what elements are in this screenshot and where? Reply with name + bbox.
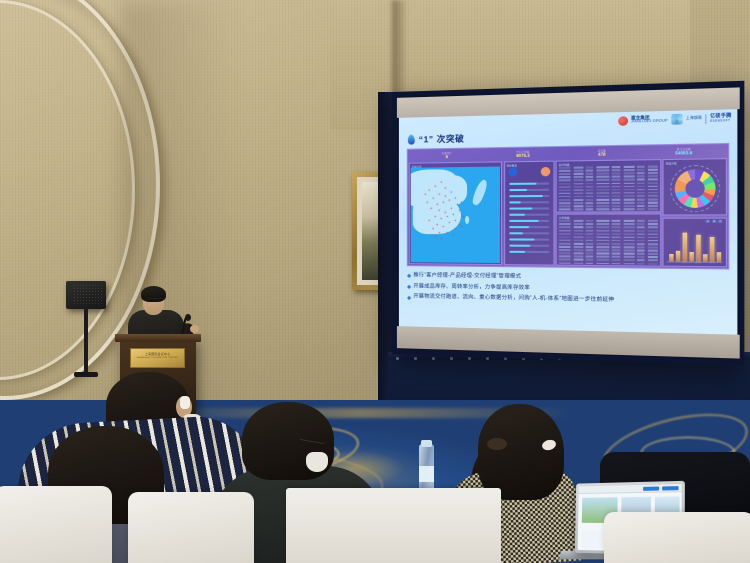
table-cell [596, 256, 609, 258]
map-marker [447, 232, 448, 233]
table-cell [647, 220, 657, 222]
partner-flower-icon [671, 114, 682, 125]
table-cell [647, 169, 657, 171]
table-cell [586, 240, 594, 242]
table-row [559, 227, 658, 229]
map-canvas [411, 167, 500, 263]
table-row [559, 265, 658, 266]
table-cell [586, 209, 594, 211]
table-cell [573, 186, 583, 188]
table-cell [660, 260, 661, 262]
table-cell [573, 205, 583, 207]
table-cell [647, 195, 657, 197]
table-cell [637, 227, 645, 229]
table-cell [573, 202, 583, 204]
table-cell [596, 259, 609, 261]
water-bottle-cap [421, 440, 432, 447]
table-cell [596, 212, 609, 213]
table-row [559, 256, 658, 258]
table-cell [612, 169, 621, 171]
table-cell [612, 182, 621, 184]
slide-bullet-1: 开展成品库存、周转率分析，力争提高库存效率 [408, 283, 728, 295]
table-cell [559, 249, 571, 251]
table-cell [596, 253, 609, 255]
landmass-taiwan [465, 216, 469, 224]
table-cell [637, 172, 645, 174]
table-cell [637, 195, 645, 197]
table-cell [559, 252, 571, 254]
table-cell [586, 186, 594, 188]
table-cell [573, 183, 583, 185]
table-row [559, 220, 658, 222]
table-cell [647, 243, 657, 245]
metric-minibar-fill [509, 251, 526, 254]
table-cell [647, 185, 657, 187]
table-cell [586, 249, 594, 251]
podium-top-surface [115, 334, 201, 342]
table-cell [647, 237, 657, 239]
table-cell [596, 173, 609, 175]
table-cell [660, 263, 661, 265]
table-row [559, 199, 658, 201]
table-cell [596, 176, 609, 178]
table-cell [647, 172, 657, 174]
table-cell [637, 223, 645, 225]
table-cell [623, 230, 634, 232]
table-cell [596, 179, 609, 181]
table-cell [637, 208, 645, 210]
table-cell [559, 196, 571, 198]
table-cell [623, 189, 634, 191]
table-cell [647, 182, 657, 184]
table-cell [612, 220, 621, 222]
bar-chart-panel: 日周月 [662, 217, 727, 267]
metric-minibar [509, 226, 549, 229]
table-row [559, 262, 658, 265]
table-cell [660, 208, 661, 210]
table-cell [559, 183, 571, 185]
metric-minibar [509, 189, 549, 192]
table-cell [637, 220, 645, 222]
bar-7 [710, 237, 714, 262]
metric-bubble-secondary [540, 167, 550, 176]
table-cell [596, 227, 609, 229]
table-cell [637, 166, 645, 168]
table-cell [586, 220, 594, 222]
table-cell [637, 256, 645, 258]
earbud-icon [180, 396, 190, 409]
table-cell [596, 166, 609, 168]
speaker-grill-icon [73, 284, 103, 306]
table-cell [623, 243, 634, 245]
table-cell [559, 243, 571, 245]
bar-6 [703, 254, 707, 262]
table-cell [637, 250, 645, 252]
bullet-text: 开展物流交付跑道、流向、重心数据分析，问购“人-机-体系”地图进一步往前延伸 [413, 294, 614, 304]
kpi-3: 累计交易额54093.6 [643, 148, 724, 157]
table-cell [612, 202, 621, 204]
table-cell [596, 249, 609, 251]
table-cell [586, 170, 594, 172]
table-cell [612, 212, 621, 213]
table-cell [596, 236, 609, 238]
map-marker [435, 236, 436, 237]
table-cell [637, 263, 645, 265]
table-cell [573, 227, 583, 229]
table-cell [660, 230, 661, 232]
table-cell [623, 240, 634, 242]
metric-minibar [509, 214, 549, 217]
table-cell [573, 262, 583, 264]
table-cell [623, 202, 634, 204]
table-cell [559, 227, 571, 229]
table-cell [559, 186, 571, 188]
jianlong-mark-icon [618, 116, 628, 126]
bullet-text: 推行“客户经理-产品经理-交付经理”管理模式 [413, 272, 521, 280]
table-cell [612, 195, 621, 197]
metric-bubbles [508, 167, 550, 177]
table-cell [559, 176, 571, 178]
table-cell [660, 192, 661, 194]
microphone-head-icon [185, 314, 191, 321]
table-cell [637, 243, 645, 245]
table-cell [559, 256, 571, 258]
podium-plaque-main: 上海国际会议中心 SHANGHAI CONVENTION CENTER [130, 348, 185, 368]
backdrop-grommet [414, 357, 417, 360]
table-cell [647, 253, 657, 255]
table-cell [647, 240, 657, 242]
table-row [559, 223, 658, 225]
table-cell [647, 223, 657, 225]
table-cell [647, 189, 657, 191]
table-cell [637, 179, 645, 181]
table-row [559, 179, 658, 182]
table-cell [596, 199, 609, 201]
table-cell [660, 223, 661, 225]
table-cell [573, 265, 583, 266]
table-cell [573, 192, 583, 194]
table-cell [559, 205, 571, 207]
table-cell [586, 176, 594, 178]
table-cell [637, 185, 645, 187]
wall-speaker [66, 281, 106, 309]
table-cell [596, 209, 609, 211]
metric-minibar [509, 220, 549, 222]
bullet-marker-icon [407, 285, 411, 289]
table-cell [559, 189, 571, 191]
table-cell [660, 165, 661, 167]
table-cell [559, 230, 571, 232]
table-cell [559, 202, 571, 204]
table-cell [573, 220, 583, 222]
table-cell [637, 259, 645, 261]
table-cell [586, 199, 594, 201]
table-cell [660, 202, 661, 204]
slide-title: “1” 次突破 [408, 132, 465, 145]
bar-2 [676, 251, 680, 262]
metric-minibar-fill [509, 214, 525, 216]
table-cell [637, 230, 645, 232]
table-cell [660, 179, 661, 181]
table-cell [660, 256, 661, 258]
table-cell [596, 220, 609, 222]
backdrop-grommet [450, 357, 453, 360]
map-marker [455, 228, 456, 229]
table-cell [637, 233, 645, 235]
bar-chart-tags: 日周月 [706, 219, 723, 222]
table-cell [612, 259, 621, 261]
table-cell [586, 230, 594, 232]
metric-minibar [509, 207, 549, 210]
table-cell [596, 230, 609, 232]
bi-dashboard-screenshot: 在线用户6今日订单量9075.3库存量478累计交易额54093.6 全国分布 [407, 143, 730, 270]
table-cell [647, 260, 657, 262]
table-cell [573, 173, 583, 175]
laptop-toolbar-button-2[interactable] [662, 486, 679, 491]
bar-chart-axis [667, 262, 723, 263]
table-cell [637, 205, 645, 207]
table-cell [660, 220, 661, 222]
table-cell [647, 192, 657, 194]
table-cell [596, 243, 609, 245]
table-row [559, 189, 658, 191]
table-row [559, 259, 658, 262]
table-cell [623, 212, 634, 213]
table-row [559, 182, 658, 185]
table-cell [637, 192, 645, 194]
table-cell [573, 236, 583, 238]
table-cell [623, 192, 634, 194]
table-cell [623, 182, 634, 184]
table-cell [623, 233, 634, 235]
table-cell [586, 202, 594, 204]
table-cell [586, 179, 594, 181]
conference-table [286, 488, 501, 563]
table-cell [586, 266, 594, 267]
bullet-text: 开展成品库存、周转率分析，力争提高库存效率 [413, 283, 530, 291]
table-cell [596, 262, 609, 264]
metric-bubble-primary [508, 167, 517, 176]
metric-minibar-fill [509, 232, 523, 234]
donut-chart-panel: 构成分析 [662, 158, 727, 216]
table-cell [573, 170, 583, 172]
table-cell [623, 246, 634, 248]
table-cell [596, 196, 609, 198]
metric-minibar-fill [509, 220, 539, 222]
table-cell [660, 188, 661, 190]
slide-logo-bar: 建龙集团 JIANLONG GROUP 上海钢联 亿硕手腾 ESENSOFT [618, 113, 732, 126]
table-cell [586, 256, 594, 258]
table-cell [559, 193, 571, 195]
table-row [559, 175, 658, 178]
kpi-value: 9075.3 [486, 153, 561, 159]
attendee-woman-hair [478, 404, 564, 500]
table-row [559, 246, 658, 248]
table-cell [573, 223, 583, 225]
table-row [559, 243, 658, 245]
table-cell [559, 173, 571, 175]
table-cell [623, 172, 634, 174]
table-cell [660, 227, 661, 229]
map-marker [461, 226, 462, 227]
table-cell [660, 175, 661, 177]
metric-minibar-fill [509, 183, 537, 186]
bar-chart-tag[interactable]: 周 [712, 219, 716, 222]
table-cell [596, 205, 609, 207]
kpi-value: 478 [563, 152, 641, 158]
table-cell [623, 223, 634, 225]
table-row [559, 195, 658, 197]
table-cell [647, 166, 657, 168]
backdrop-grommet [396, 357, 399, 360]
table-row [559, 172, 658, 175]
table-cell [612, 179, 621, 181]
table-cell [586, 246, 594, 248]
table-cell [559, 170, 571, 172]
landmass-japan [471, 178, 490, 206]
metric-minibar-fill [509, 245, 531, 248]
table-cell [586, 243, 594, 245]
table-row [559, 192, 658, 194]
table-cell [623, 227, 634, 229]
table-row [559, 212, 658, 213]
table-cell [596, 223, 609, 225]
table-cell [647, 205, 657, 207]
table-row [559, 249, 658, 251]
table-cell [559, 239, 571, 241]
table-cell [660, 246, 661, 248]
table-cell [623, 208, 634, 210]
table-cell [623, 205, 634, 207]
table-cell [612, 256, 621, 258]
map-marker [453, 234, 454, 235]
table-cell [612, 205, 621, 207]
table-cell [637, 237, 645, 239]
table-cell [623, 259, 634, 261]
table-cell [647, 179, 657, 181]
table-cell [647, 212, 657, 213]
table-cell [586, 196, 594, 198]
map-marker [463, 216, 464, 217]
chair-front-left [0, 486, 112, 563]
speaker-stand-base [74, 372, 98, 377]
metric-minibar [509, 238, 549, 241]
table-cell [573, 189, 583, 191]
table-row [559, 185, 658, 188]
table-cell [586, 262, 594, 264]
table-cell [559, 180, 571, 182]
table-cell [623, 186, 634, 188]
table-cell [637, 169, 645, 171]
water-drop-icon [407, 134, 415, 145]
conference-room-scene: 建龙集团 JIANLONG GROUP 上海钢联 亿硕手腾 ESENSOFT “… [0, 0, 750, 563]
table-cell [647, 246, 657, 248]
projection-screen: 建龙集团 JIANLONG GROUP 上海钢联 亿硕手腾 ESENSOFT “… [392, 81, 744, 366]
tables-column: 实时明细 订单明细 [556, 159, 661, 267]
table-cell [596, 192, 609, 194]
chair-right [604, 512, 750, 563]
metric-minibar-fill [509, 238, 535, 241]
table-cell [637, 240, 645, 242]
table-cell [612, 230, 621, 232]
table-cell [596, 266, 609, 267]
table-cell [612, 233, 621, 235]
table-row [559, 208, 658, 210]
table-cell [660, 253, 661, 255]
map-marker [441, 238, 442, 239]
table-cell [623, 256, 634, 258]
table-cell [573, 176, 583, 178]
data-table-bottom: 订单明细 [556, 214, 661, 267]
table-cell [647, 227, 657, 229]
table-cell [559, 259, 571, 261]
table-cell [647, 233, 657, 235]
bar-8 [717, 252, 721, 262]
table-cell [559, 262, 571, 264]
china-map-panel: 全国分布 [409, 161, 502, 265]
table-cell [573, 252, 583, 254]
table-cell [612, 173, 621, 175]
backdrop-grommet [486, 357, 489, 360]
table-cell [647, 266, 657, 267]
table-cell [559, 209, 571, 211]
table-cell [660, 182, 661, 184]
table-cell [573, 209, 583, 211]
bullet-marker-icon [407, 274, 411, 278]
table-cell [612, 199, 621, 201]
table-cell [660, 169, 661, 171]
table-cell [623, 220, 634, 222]
hair-tie [487, 438, 507, 450]
table-cell [637, 212, 645, 213]
table-top-title: 实时明细 [559, 162, 570, 166]
table-cell [623, 169, 634, 171]
table-cell [660, 198, 661, 200]
table-cell [573, 246, 583, 248]
metrics-panel: 指标概览 [504, 161, 554, 266]
metric-minibar-fill [509, 207, 533, 210]
table-cell [612, 189, 621, 191]
slide-title-text: “1” 次突破 [419, 132, 465, 145]
slide-bullet-list: 推行“客户经理-产品经理-交付经理”管理模式开展成品库存、周转率分析，力争提高库… [408, 272, 728, 311]
table-cell [612, 246, 621, 248]
table-cell [647, 263, 657, 265]
table-cell [612, 266, 621, 267]
table-cell [623, 176, 634, 178]
bar-chart-tag[interactable]: 月 [718, 219, 722, 222]
table-cell [623, 266, 634, 267]
table-cell [596, 240, 609, 242]
laptop-toolbar-button-1[interactable] [643, 486, 659, 491]
metrics-column: 指标概览 [504, 161, 554, 266]
table-cell [612, 227, 621, 229]
kpi-0: 在线用户6 [411, 152, 484, 160]
table-cell [612, 186, 621, 188]
presenter-glasses [149, 298, 165, 302]
table-cell [573, 233, 583, 235]
bar-1 [669, 254, 673, 262]
slide-bullet-0: 推行“客户经理-产品经理-交付经理”管理模式 [408, 272, 728, 283]
table-cell [647, 202, 657, 204]
table-cell [647, 250, 657, 252]
table-cell [586, 173, 594, 175]
table-cell [586, 236, 594, 238]
map-markers [411, 167, 500, 168]
table-cell [612, 209, 621, 211]
table-cell [559, 167, 571, 169]
table-cell [596, 169, 609, 171]
bar-chart-tag[interactable]: 日 [706, 219, 710, 222]
